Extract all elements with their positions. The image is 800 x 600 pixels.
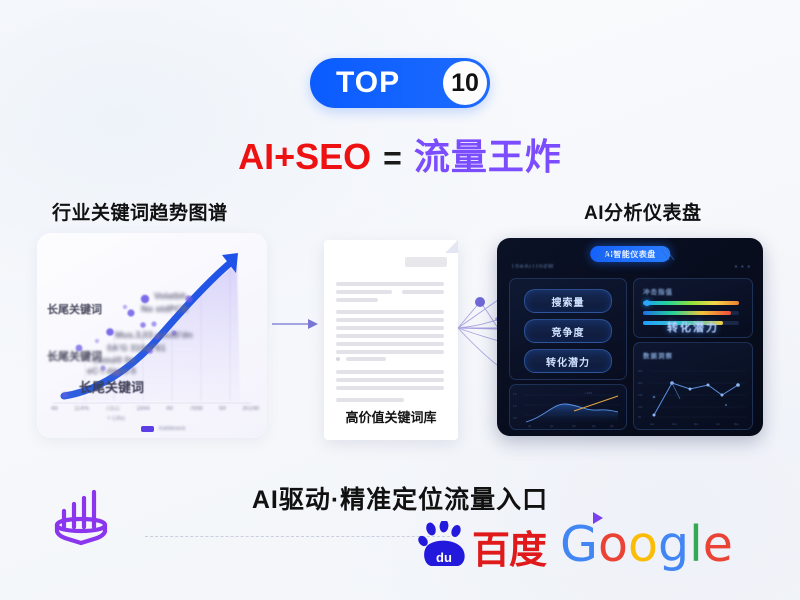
document-bullet-icon	[336, 357, 340, 361]
svg-text:Q2: Q2	[550, 424, 554, 428]
gauge-bar-knob[interactable]	[644, 300, 650, 306]
document-text-line	[336, 398, 404, 402]
google-letter-g2: g	[658, 520, 689, 569]
svg-text:Jan: Jan	[650, 422, 655, 426]
svg-text:Apr: Apr	[716, 422, 720, 426]
section-heading-left: 行业关键词趋势图谱	[52, 198, 228, 225]
document-text-line	[336, 318, 444, 322]
metric-pill-competition[interactable]: 竞争度	[524, 319, 612, 343]
trend-label-1: 长尾关键词	[47, 301, 102, 317]
partner-logos: du 百度 G o o g l e	[418, 520, 733, 569]
svg-text:Feb: Feb	[672, 422, 677, 426]
svg-text:200: 200	[638, 381, 643, 385]
document-header-chip	[405, 257, 447, 267]
document-caption: 高价值关键词库	[324, 407, 458, 426]
axis-tick: 49	[166, 406, 173, 412]
trend-legend: trafdeuvoi	[141, 426, 185, 432]
document-text-line	[336, 334, 444, 338]
baidu-paw-icon: du	[418, 521, 470, 569]
baidu-wordmark: 百度	[472, 534, 546, 569]
dashboard-brand-label: TheAiTrndW	[511, 264, 554, 270]
section-heading-right: AI分析仪表盘	[584, 198, 702, 225]
scatter-text-5: euoui0 0n	[93, 355, 135, 365]
title-operator: =	[383, 140, 402, 177]
scatter-text-4: 0A'G 310uf'61	[107, 343, 166, 353]
decor-slashes-left-icon	[593, 248, 619, 262]
svg-text:1.0: 1.0	[513, 404, 517, 408]
svg-text:↗ 32%: ↗ 32%	[584, 391, 593, 395]
document-text-line	[336, 386, 444, 390]
data-insight-panel: 数据洞察 300200	[633, 342, 753, 430]
scatter-text-3: Mus.3,03 soudi'dn	[115, 330, 193, 340]
play-triangle-icon	[593, 512, 603, 524]
badge-label: TOP	[336, 68, 400, 98]
bottom-tagline: AI驱动·精准定位流量入口	[0, 480, 800, 516]
google-letter-l: l	[689, 520, 703, 569]
trend-label-3: 长尾关键词	[79, 377, 144, 396]
google-letter-g1: G	[560, 520, 598, 569]
main-title: AI+SEO = 流量王炸	[0, 128, 800, 180]
top-rank-badge: TOP 10	[310, 58, 490, 108]
baidu-logo[interactable]: du 百度	[418, 521, 546, 569]
trend-axis-ticks: 48 114% 72LC 1844 49 7698 69 30248	[51, 406, 259, 412]
metric-pill-search-volume[interactable]: 搜索量	[524, 289, 612, 313]
document-text-line	[336, 370, 444, 374]
document-text-line	[402, 290, 444, 294]
axis-tick: 69	[219, 406, 226, 412]
traffic-area-chart-panel: 1.51.00.5 Q1Q2Q3 Q4Q5 ↗ 32%	[509, 384, 627, 430]
svg-text:Q3: Q3	[572, 424, 576, 428]
scatter-text-2: No stdPCB	[141, 304, 188, 314]
axis-tick: 7698	[189, 406, 202, 412]
gauge-bar-track	[643, 311, 739, 315]
document-text-line	[336, 282, 444, 286]
gauge-bar-fill	[643, 311, 731, 315]
conversion-gauge-panel: 冲击指值 转化潜力	[633, 278, 753, 338]
dashboard-menu-icon[interactable]: • • •	[735, 264, 751, 271]
trend-chart-card: 长尾关键词 长尾关键词 长尾关键词 Volatbh No stdPCB Mus.…	[37, 233, 267, 438]
svg-text:150: 150	[638, 393, 643, 397]
data-insight-line-chart-graphic: 300200 15010050 JanFebMar AprMay	[634, 343, 752, 429]
axis-tick: 114%	[74, 406, 89, 412]
legend-swatch	[141, 426, 154, 432]
svg-text:0.5: 0.5	[513, 416, 517, 420]
document-text-line	[336, 290, 392, 294]
google-letter-o2: o	[628, 520, 658, 569]
svg-text:Q5: Q5	[610, 424, 614, 428]
axis-tick: 1844	[136, 406, 149, 412]
google-letter-e: e	[703, 520, 733, 569]
document-text-line	[336, 350, 444, 354]
legend-label: trafdeuvoi	[159, 426, 185, 432]
svg-text:May: May	[734, 422, 740, 426]
gauge-bar-fill	[643, 301, 739, 305]
page-fold-icon	[445, 240, 458, 253]
poster-canvas: TOP 10 AI+SEO = 流量王炸 行业关键词趋势图谱 AI分析仪表盘	[0, 0, 800, 600]
svg-text:300: 300	[638, 369, 643, 373]
title-right-text: 流量王炸	[414, 128, 562, 180]
scatter-text-1: Volatbh	[154, 291, 186, 301]
metric-pill-conversion-potential[interactable]: 转化潜力	[524, 349, 612, 373]
svg-text:50: 50	[638, 415, 641, 419]
keyword-document-card: 高价值关键词库	[324, 240, 458, 440]
divider-dashed-line	[145, 536, 450, 537]
scatter-text-6: eC·i dgeo-5	[87, 366, 136, 376]
svg-text:Mar: Mar	[694, 422, 699, 426]
axis-tick: 72LC	[106, 406, 120, 412]
document-text-line	[346, 357, 386, 361]
gauge-panel-title: 冲击指值	[643, 286, 673, 296]
document-text-line	[336, 326, 444, 330]
title-left-text: AI+SEO	[238, 136, 371, 178]
document-text-line	[336, 310, 444, 314]
svg-text:100: 100	[638, 405, 643, 409]
flow-arrow-icon	[272, 318, 320, 330]
google-letter-o1: o	[598, 520, 628, 569]
document-text-line	[336, 298, 378, 302]
metrics-panel: 搜索量 竞争度 转化潜力	[509, 278, 627, 380]
svg-text:Q4: Q4	[592, 424, 596, 428]
google-logo[interactable]: G o o g l e	[560, 520, 733, 569]
axis-tick: 30248	[242, 406, 259, 412]
gauge-bar-track	[643, 301, 739, 305]
ai-dashboard-card: AI智能仪表盘 TheAiTrndW • • • 搜索量 竞争度 转化潜力	[497, 238, 763, 436]
traffic-area-chart-graphic: 1.51.00.5 Q1Q2Q3 Q4Q5 ↗ 32%	[510, 385, 626, 429]
gauge-overlay-text: 转化潜力	[634, 319, 752, 335]
axis-tick: 48	[51, 406, 58, 412]
svg-text:Q1: Q1	[528, 424, 532, 428]
trend-axis-title: + Cthu	[107, 416, 125, 422]
document-text-line	[336, 342, 444, 346]
badge-number: 10	[443, 61, 487, 105]
svg-text:1.5: 1.5	[513, 392, 517, 396]
baidu-du-mark: du	[436, 550, 452, 565]
document-text-line	[336, 378, 444, 382]
decor-slashes-right-icon	[657, 248, 683, 262]
